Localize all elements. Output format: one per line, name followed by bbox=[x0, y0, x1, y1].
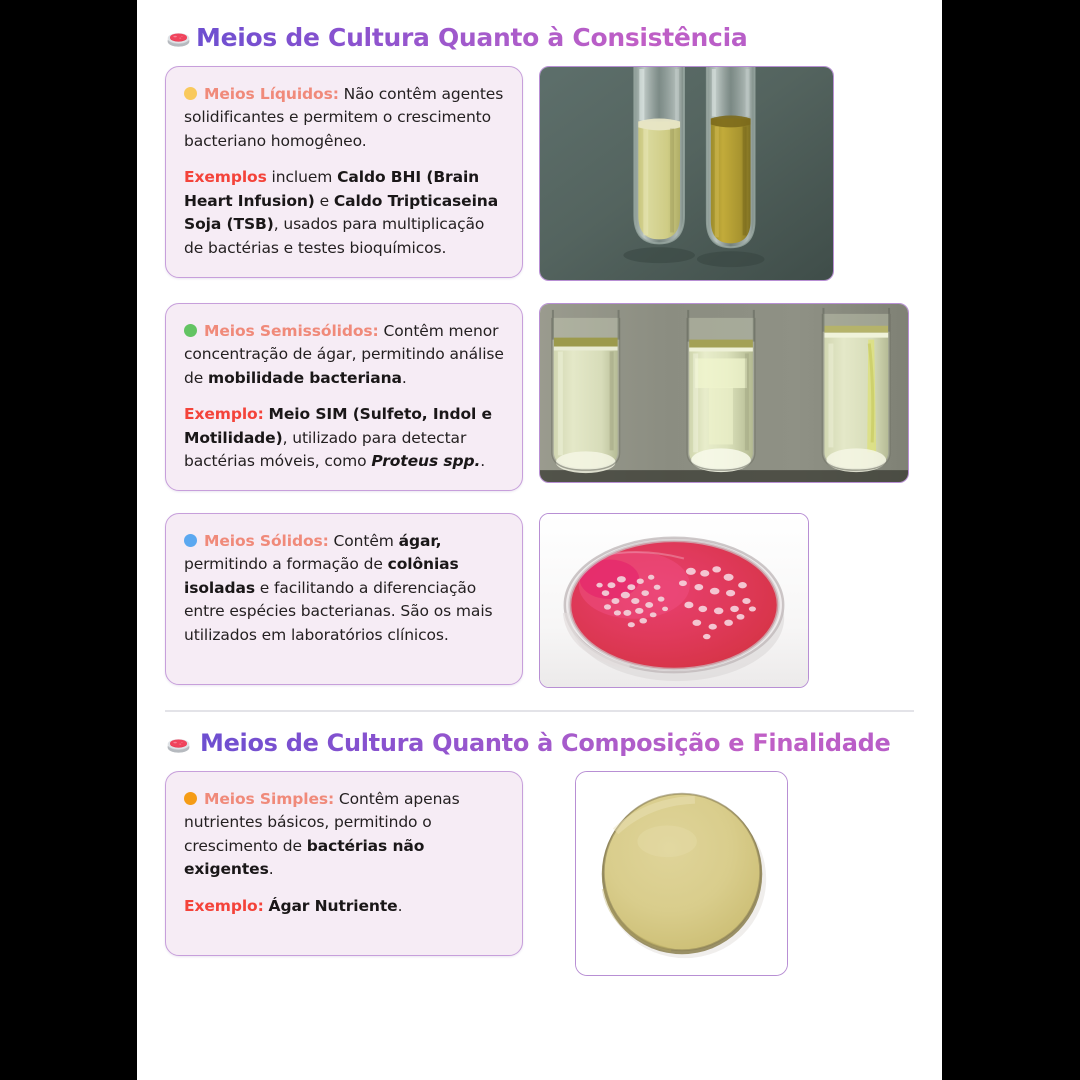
section-divider bbox=[165, 710, 914, 712]
p2-t2: . bbox=[398, 897, 403, 915]
image-column bbox=[539, 771, 788, 976]
yellow-bullet bbox=[184, 87, 197, 100]
image-column bbox=[539, 303, 909, 483]
section-heading-consistencia: Meios de Cultura Quanto à Consistência bbox=[165, 24, 914, 52]
text-column: Meios Sólidos: Contêm ágar, permitindo a… bbox=[165, 513, 523, 685]
text-column: Meios Semissólidos: Contêm menor concent… bbox=[165, 303, 523, 491]
term-label: Meios Semissólidos: bbox=[204, 322, 379, 340]
card-paragraph-2: Exemplo: Meio SIM (Sulfeto, Indol e Moti… bbox=[184, 403, 504, 474]
term-label: Meios Líquidos: bbox=[204, 85, 339, 103]
orange-bullet bbox=[184, 792, 197, 805]
card-paragraph-2: Exemplo: Ágar Nutriente. bbox=[184, 895, 504, 919]
image-column bbox=[539, 513, 809, 688]
card-meios-semissolidos: Meios Semissólidos: Contêm menor concent… bbox=[165, 303, 523, 491]
p1-t2: . bbox=[402, 369, 407, 387]
card-meios-solidos: Meios Sólidos: Contêm ágar, permitindo a… bbox=[165, 513, 523, 685]
semisolid-media-tubes-photo bbox=[539, 303, 909, 483]
section-title: Meios de Cultura Quanto à Composição e F… bbox=[200, 730, 891, 756]
petri-dish-icon bbox=[165, 24, 192, 51]
p2-t3: . bbox=[480, 452, 485, 470]
solid-media-agar-plate-photo bbox=[539, 513, 809, 688]
green-bullet bbox=[184, 324, 197, 337]
example-label: Exemplos bbox=[184, 168, 267, 186]
p2-t1: incluem bbox=[267, 168, 337, 186]
p2-t2: e bbox=[315, 192, 334, 210]
p2-species-name: Proteus spp. bbox=[371, 452, 480, 470]
document-content: Meios de Cultura Quanto à Consistência M… bbox=[137, 0, 942, 976]
card-paragraph-1: Meios Simples: Contêm apenas nutrientes … bbox=[184, 788, 504, 882]
p1-bold-1: ágar, bbox=[399, 532, 442, 550]
petri-dish-icon bbox=[165, 730, 192, 757]
card-meios-liquidos: Meios Líquidos: Não contêm agentes solid… bbox=[165, 66, 523, 278]
example-label: Exemplo: bbox=[184, 405, 264, 423]
card-paragraph-1: Meios Semissólidos: Contêm menor concent… bbox=[184, 320, 504, 391]
blue-bullet bbox=[184, 534, 197, 547]
content-row-meios-semissolidos: Meios Semissólidos: Contêm menor concent… bbox=[165, 303, 914, 491]
example-label: Exemplo: bbox=[184, 897, 264, 915]
p1-t2: permitindo a formação de bbox=[184, 555, 388, 573]
section-title: Meios de Cultura Quanto à Consistência bbox=[196, 24, 747, 52]
card-paragraph-1: Meios Sólidos: Contêm ágar, permitindo a… bbox=[184, 530, 504, 648]
content-row-meios-simples: Meios Simples: Contêm apenas nutrientes … bbox=[165, 771, 914, 976]
section-heading-composicao: Meios de Cultura Quanto à Composição e F… bbox=[165, 730, 914, 757]
p2-bold-1: Ágar Nutriente bbox=[269, 897, 398, 915]
card-paragraph-2: Exemplos incluem Caldo BHI (Brain Heart … bbox=[184, 166, 504, 260]
liquid-media-test-tubes-photo bbox=[539, 66, 834, 281]
text-column: Meios Simples: Contêm apenas nutrientes … bbox=[165, 771, 523, 956]
term-label: Meios Sólidos: bbox=[204, 532, 329, 550]
p1-t2: . bbox=[269, 860, 274, 878]
document-page: Meios de Cultura Quanto à Consistência M… bbox=[137, 0, 942, 1080]
text-column: Meios Líquidos: Não contêm agentes solid… bbox=[165, 66, 523, 278]
simple-media-nutrient-agar-plate-photo bbox=[575, 771, 788, 976]
content-row-meios-solidos: Meios Sólidos: Contêm ágar, permitindo a… bbox=[165, 513, 914, 688]
card-paragraph-1: Meios Líquidos: Não contêm agentes solid… bbox=[184, 83, 504, 154]
image-column bbox=[539, 66, 834, 281]
card-meios-simples: Meios Simples: Contêm apenas nutrientes … bbox=[165, 771, 523, 956]
term-label: Meios Simples: bbox=[204, 790, 334, 808]
p1-bold-1: mobilidade bacteriana bbox=[208, 369, 402, 387]
content-row-meios-liquidos: Meios Líquidos: Não contêm agentes solid… bbox=[165, 66, 914, 281]
p1-t1: Contêm bbox=[329, 532, 399, 550]
